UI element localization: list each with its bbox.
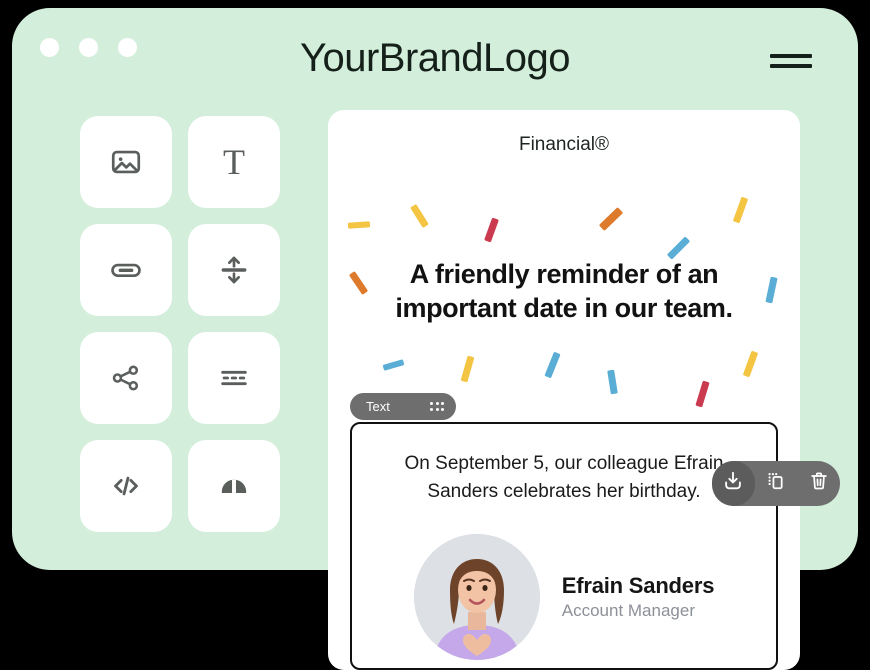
tool-divider[interactable] bbox=[188, 332, 280, 424]
confetti-piece bbox=[733, 197, 748, 224]
tool-text[interactable]: T bbox=[188, 116, 280, 208]
confetti-piece bbox=[695, 381, 709, 408]
confetti-piece bbox=[348, 221, 370, 229]
confetti-piece bbox=[544, 352, 560, 379]
download-tray-icon bbox=[722, 470, 744, 497]
confetti-piece bbox=[461, 356, 475, 383]
brand-title: YourBrandLogo bbox=[12, 36, 858, 81]
confetti-piece bbox=[607, 370, 618, 395]
footer-icon bbox=[217, 469, 251, 503]
six-dot-grid-icon[interactable] bbox=[430, 402, 444, 411]
confetti-piece bbox=[743, 351, 758, 378]
image-icon bbox=[109, 145, 143, 179]
canvas-headline: A friendly reminder of an important date… bbox=[362, 258, 766, 326]
confetti-piece bbox=[484, 218, 499, 243]
tool-footer[interactable] bbox=[188, 440, 280, 532]
share-nodes-icon bbox=[110, 362, 142, 394]
trash-icon bbox=[808, 470, 830, 497]
serif-t-icon: T bbox=[223, 144, 245, 180]
person-meta: Efrain Sanders Account Manager bbox=[562, 573, 714, 621]
tool-social-share[interactable] bbox=[80, 332, 172, 424]
avatar bbox=[414, 534, 540, 660]
person-role: Account Manager bbox=[562, 601, 714, 621]
confetti-piece bbox=[765, 277, 777, 304]
selected-block-badge[interactable]: Text bbox=[350, 393, 456, 420]
confetti-piece bbox=[410, 204, 429, 228]
save-button[interactable] bbox=[712, 461, 755, 506]
block-action-toolbar bbox=[712, 461, 840, 506]
divider-lines-icon bbox=[217, 361, 251, 395]
hamburger-line-2 bbox=[770, 64, 812, 68]
avatar-photo bbox=[414, 534, 540, 660]
email-canvas-card: Financial® A friendly reminder of an imp… bbox=[328, 110, 800, 670]
vertical-resize-icon bbox=[218, 254, 250, 286]
selected-block-label: Text bbox=[366, 399, 390, 414]
canvas-kicker: Financial® bbox=[328, 134, 800, 156]
tool-image[interactable] bbox=[80, 116, 172, 208]
confetti-piece bbox=[667, 236, 690, 259]
confetti-piece bbox=[599, 207, 623, 231]
hamburger-line-1 bbox=[770, 54, 812, 58]
button-pill-icon bbox=[109, 253, 143, 287]
confetti-piece bbox=[383, 359, 405, 371]
tool-html-code[interactable] bbox=[80, 440, 172, 532]
selected-text-block[interactable]: On September 5, our colleague Efrain San… bbox=[350, 422, 778, 670]
screen-root: YourBrandLogo T bbox=[0, 0, 870, 670]
tool-button[interactable] bbox=[80, 224, 172, 316]
person-card: Efrain Sanders Account Manager bbox=[352, 534, 776, 660]
delete-button[interactable] bbox=[797, 461, 840, 506]
person-name: Efrain Sanders bbox=[562, 573, 714, 599]
tool-spacer[interactable] bbox=[188, 224, 280, 316]
code-brackets-icon bbox=[109, 469, 143, 503]
hamburger-menu-icon[interactable] bbox=[770, 50, 812, 72]
body-copy: On September 5, our colleague Efrain San… bbox=[378, 450, 750, 505]
tool-palette: T bbox=[80, 116, 280, 532]
duplicate-icon bbox=[765, 470, 787, 497]
duplicate-button[interactable] bbox=[755, 461, 798, 506]
